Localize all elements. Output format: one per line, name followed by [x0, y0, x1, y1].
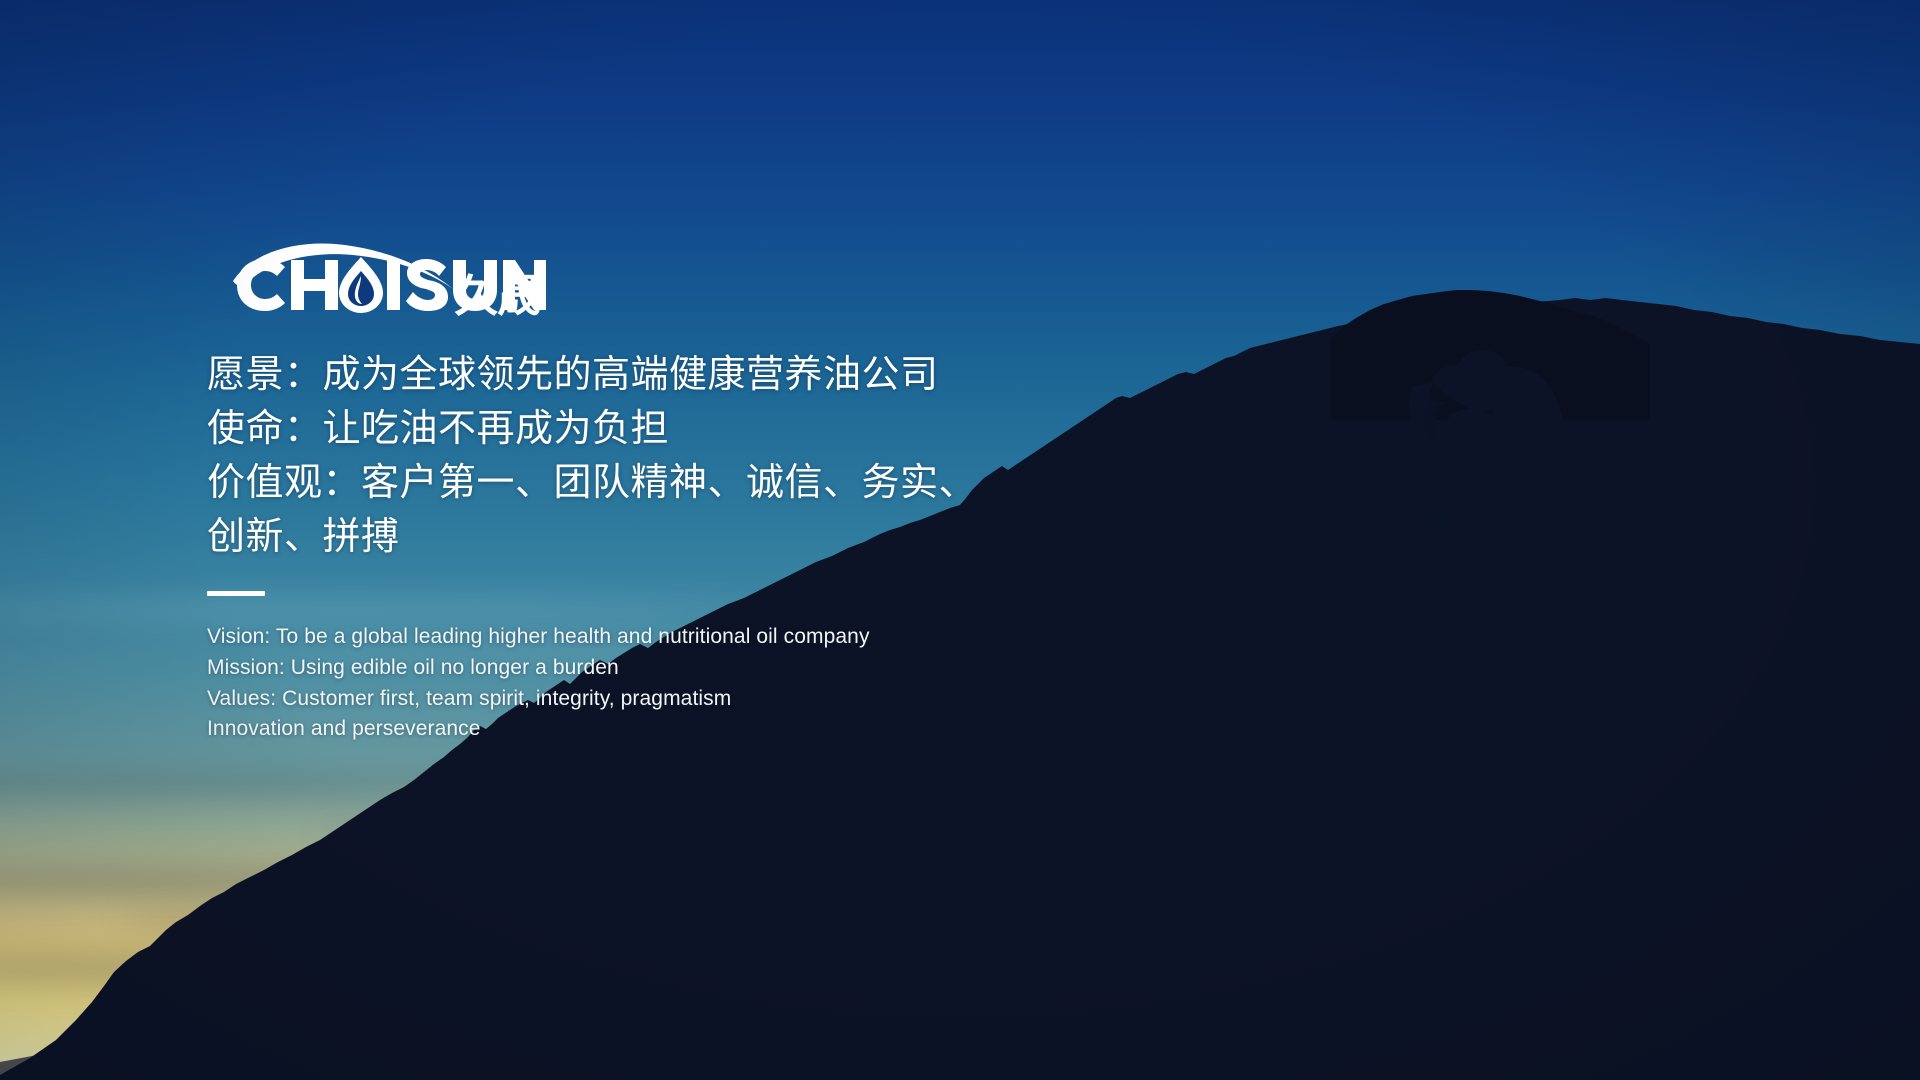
- logo-wordmark-cjk: 久晟: [454, 271, 540, 321]
- mission-line-cn: 使命：让吃油不再成为负担: [207, 403, 1207, 457]
- content-block: 久晟 CHOISUN 久晟 愿景：成为全球领先的高端健康营养油公司 使命：让吃油…: [207, 243, 1207, 745]
- vision-line-cn: 愿景：成为全球领先的高端健康营养油公司: [207, 349, 1207, 403]
- legs: [1450, 536, 1521, 714]
- mission-line-en: Mission: Using edible oil no longer a bu…: [207, 653, 1207, 684]
- statements-english: Vision: To be a global leading higher he…: [207, 622, 1207, 745]
- section-divider: [207, 591, 265, 596]
- statements-chinese: 愿景：成为全球领先的高端健康营养油公司 使命：让吃油不再成为负担 价值观：客户第…: [207, 349, 1207, 565]
- vision-line-en: Vision: To be a global leading higher he…: [207, 622, 1207, 653]
- hiker-silhouette: [1388, 340, 1608, 770]
- brand-logo[interactable]: 久晟 CHOISUN 久晟: [207, 243, 547, 321]
- values-line-cn-2: 创新、拼搏: [207, 511, 1207, 565]
- hiker-body: [1409, 350, 1569, 736]
- values-line-cn-1: 价值观：客户第一、团队精神、诚信、务实、: [207, 457, 1207, 511]
- values-line-en-1: Values: Customer first, team spirit, int…: [207, 684, 1207, 715]
- boot-right: [1484, 704, 1522, 730]
- values-line-en-2: Innovation and perseverance: [207, 714, 1207, 745]
- hip-pouch: [1428, 505, 1448, 535]
- boot-left: [1435, 712, 1474, 736]
- slide-canvas: 久晟 CHOISUN 久晟 愿景：成为全球领先的高端健康营养油公司 使命：让吃油…: [0, 0, 1920, 1080]
